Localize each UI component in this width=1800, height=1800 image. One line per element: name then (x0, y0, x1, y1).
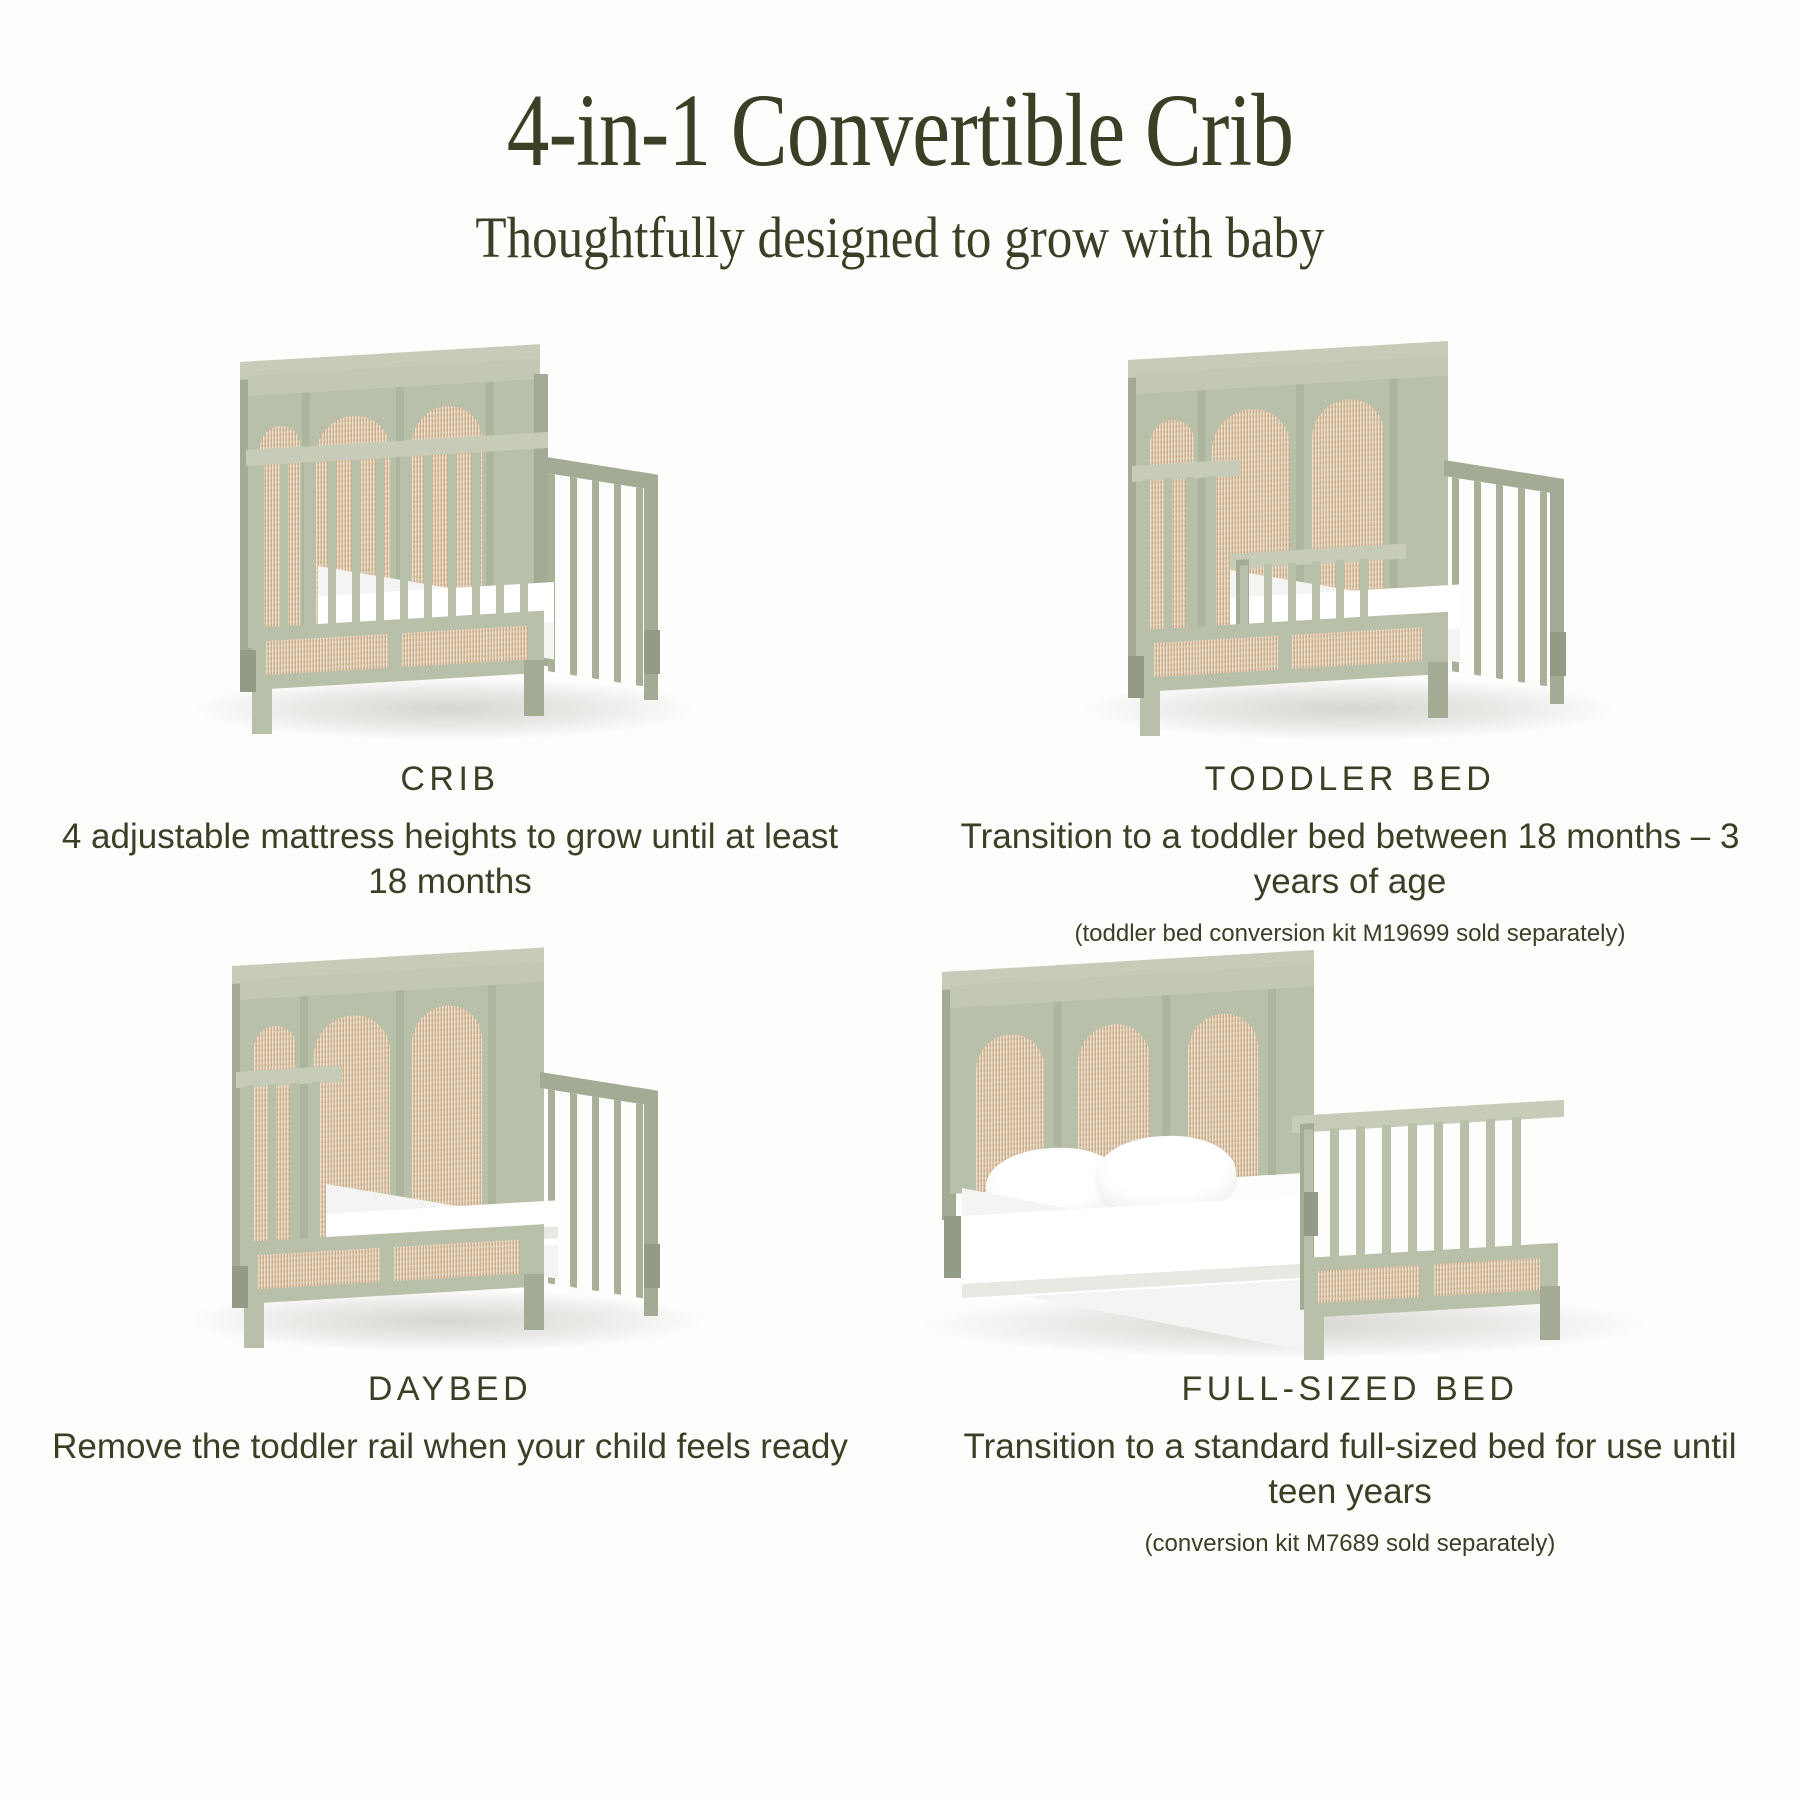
toddler-bed-caption: TODDLER BED Transition to a toddler bed … (900, 760, 1800, 949)
full-sized-bed-description: Transition to a standard full-sized bed … (940, 1425, 1760, 1515)
crib-caption: CRIB 4 adjustable mattress heights to gr… (0, 760, 900, 905)
page-subtitle: Thoughtfully designed to grow with baby (108, 206, 1692, 270)
daybed-label: DAYBED (40, 1370, 860, 1409)
panel-daybed: DAYBED Remove the toddler rail when your… (0, 940, 900, 1550)
infographic-page: 4-in-1 Convertible Crib Thoughtfully des… (0, 0, 1800, 1800)
header: 4-in-1 Convertible Crib Thoughtfully des… (0, 0, 1800, 270)
toddler-bed-label: TODDLER BED (940, 760, 1760, 799)
toddler-bed-illustration (900, 330, 1800, 760)
panel-crib: CRIB 4 adjustable mattress heights to gr… (0, 330, 900, 940)
daybed-caption: DAYBED Remove the toddler rail when your… (0, 1370, 900, 1470)
full-sized-bed-note: (conversion kit M7689 sold separately) (940, 1528, 1760, 1559)
product-configuration-grid: CRIB 4 adjustable mattress heights to gr… (0, 330, 1800, 1550)
crib-description: 4 adjustable mattress heights to grow un… (40, 815, 860, 905)
full-sized-bed-illustration (900, 940, 1800, 1370)
full-sized-bed-label: FULL-SIZED BED (940, 1370, 1760, 1409)
crib-label: CRIB (40, 760, 860, 799)
panel-toddler-bed: TODDLER BED Transition to a toddler bed … (900, 330, 1800, 940)
daybed-illustration (0, 940, 900, 1370)
toddler-bed-description: Transition to a toddler bed between 18 m… (940, 815, 1760, 905)
page-title: 4-in-1 Convertible Crib (162, 78, 1638, 184)
full-sized-bed-caption: FULL-SIZED BED Transition to a standard … (900, 1370, 1800, 1559)
daybed-description: Remove the toddler rail when your child … (40, 1425, 860, 1470)
panel-full-sized-bed: FULL-SIZED BED Transition to a standard … (900, 940, 1800, 1550)
crib-illustration (0, 330, 900, 760)
